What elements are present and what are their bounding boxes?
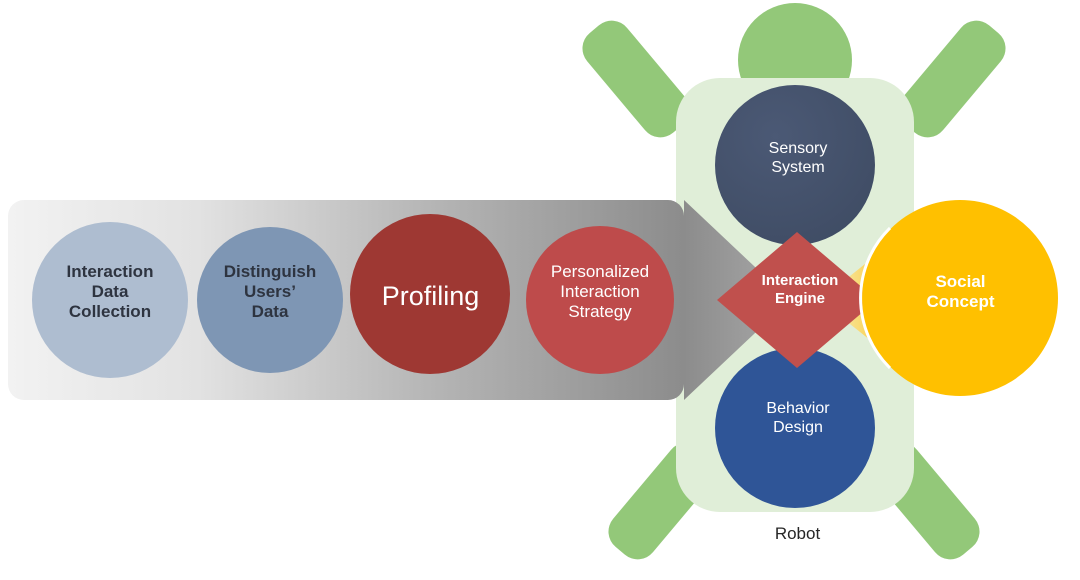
module-circle-behavior-design[interactable]	[715, 348, 875, 508]
diagram-graphics	[0, 0, 1080, 580]
diagram-canvas: Interaction Data Collection Distinguish …	[0, 0, 1080, 580]
step-circle-personalized-interaction-strategy[interactable]	[526, 226, 674, 374]
step-circle-distinguish-users-data[interactable]	[197, 227, 343, 373]
social-concept-circle[interactable]	[862, 200, 1058, 396]
step-circle-profiling[interactable]	[350, 214, 510, 374]
module-circle-sensory-system[interactable]	[715, 85, 875, 245]
step-circle-interaction-data-collection[interactable]	[32, 222, 188, 378]
